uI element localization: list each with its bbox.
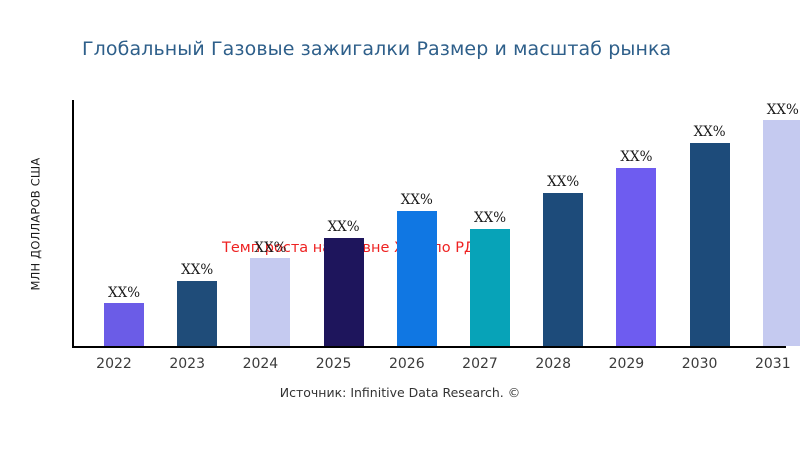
bar-group-2030[interactable]: XX%: [690, 126, 730, 346]
bar-value-label: XX%: [401, 194, 433, 208]
bar-group-2028[interactable]: XX%: [543, 176, 583, 346]
x-tick-2022: 2022: [84, 356, 144, 372]
bar-value-label: XX%: [254, 242, 286, 256]
x-axis-line: [72, 346, 786, 348]
bar-2022[interactable]: [104, 303, 144, 346]
plot-area: Темп роста на уровне XX% по РДЭ XX%XX%XX…: [72, 100, 790, 348]
bar-value-label: XX%: [547, 176, 579, 190]
bar-group-2029[interactable]: XX%: [616, 151, 656, 346]
bar-value-label: XX%: [108, 287, 140, 301]
bar-group-2027[interactable]: XX%: [470, 212, 510, 346]
x-tick-2026: 2026: [377, 356, 437, 372]
x-tick-2023: 2023: [157, 356, 217, 372]
bar-value-label: XX%: [694, 126, 726, 140]
bar-2023[interactable]: [177, 281, 217, 347]
x-tick-2027: 2027: [450, 356, 510, 372]
bar-2029[interactable]: [616, 168, 656, 347]
bar-2030[interactable]: [690, 143, 730, 346]
x-tick-2030: 2030: [670, 356, 730, 372]
x-tick-2031: 2031: [743, 356, 800, 372]
bar-2027[interactable]: [470, 229, 510, 347]
x-tick-2029: 2029: [596, 356, 656, 372]
bar-2026[interactable]: [397, 211, 437, 347]
y-axis-line: [72, 100, 74, 348]
y-axis-label: МЛН ДОЛЛАРОВ США: [28, 158, 42, 291]
source-note: Источник: Infinitive Data Research. ©: [0, 385, 800, 400]
bar-value-label: XX%: [620, 151, 652, 165]
bar-group-2023[interactable]: XX%: [177, 264, 217, 346]
x-tick-2025: 2025: [304, 356, 364, 372]
bar-group-2022[interactable]: XX%: [104, 287, 144, 346]
x-tick-2028: 2028: [523, 356, 583, 372]
bar-2025[interactable]: [324, 238, 364, 347]
bar-group-2025[interactable]: XX%: [324, 221, 364, 346]
bar-group-2031[interactable]: XX%: [763, 104, 800, 347]
bar-value-label: XX%: [328, 221, 360, 235]
bar-value-label: XX%: [181, 264, 213, 278]
chart-title: Глобальный Газовые зажигалки Размер и ма…: [82, 38, 742, 60]
bar-group-2026[interactable]: XX%: [397, 194, 437, 346]
bar-group-2024[interactable]: XX%: [250, 242, 290, 347]
bar-value-label: XX%: [474, 212, 506, 226]
bar-2031[interactable]: [763, 120, 800, 346]
bar-value-label: XX%: [767, 104, 799, 118]
x-tick-2024: 2024: [230, 356, 290, 372]
bar-2024[interactable]: [250, 258, 290, 346]
bar-2028[interactable]: [543, 193, 583, 347]
chart-container: Глобальный Газовые зажигалки Размер и ма…: [0, 0, 800, 450]
y-axis-label-container: МЛН ДОЛЛАРОВ США: [22, 100, 48, 348]
